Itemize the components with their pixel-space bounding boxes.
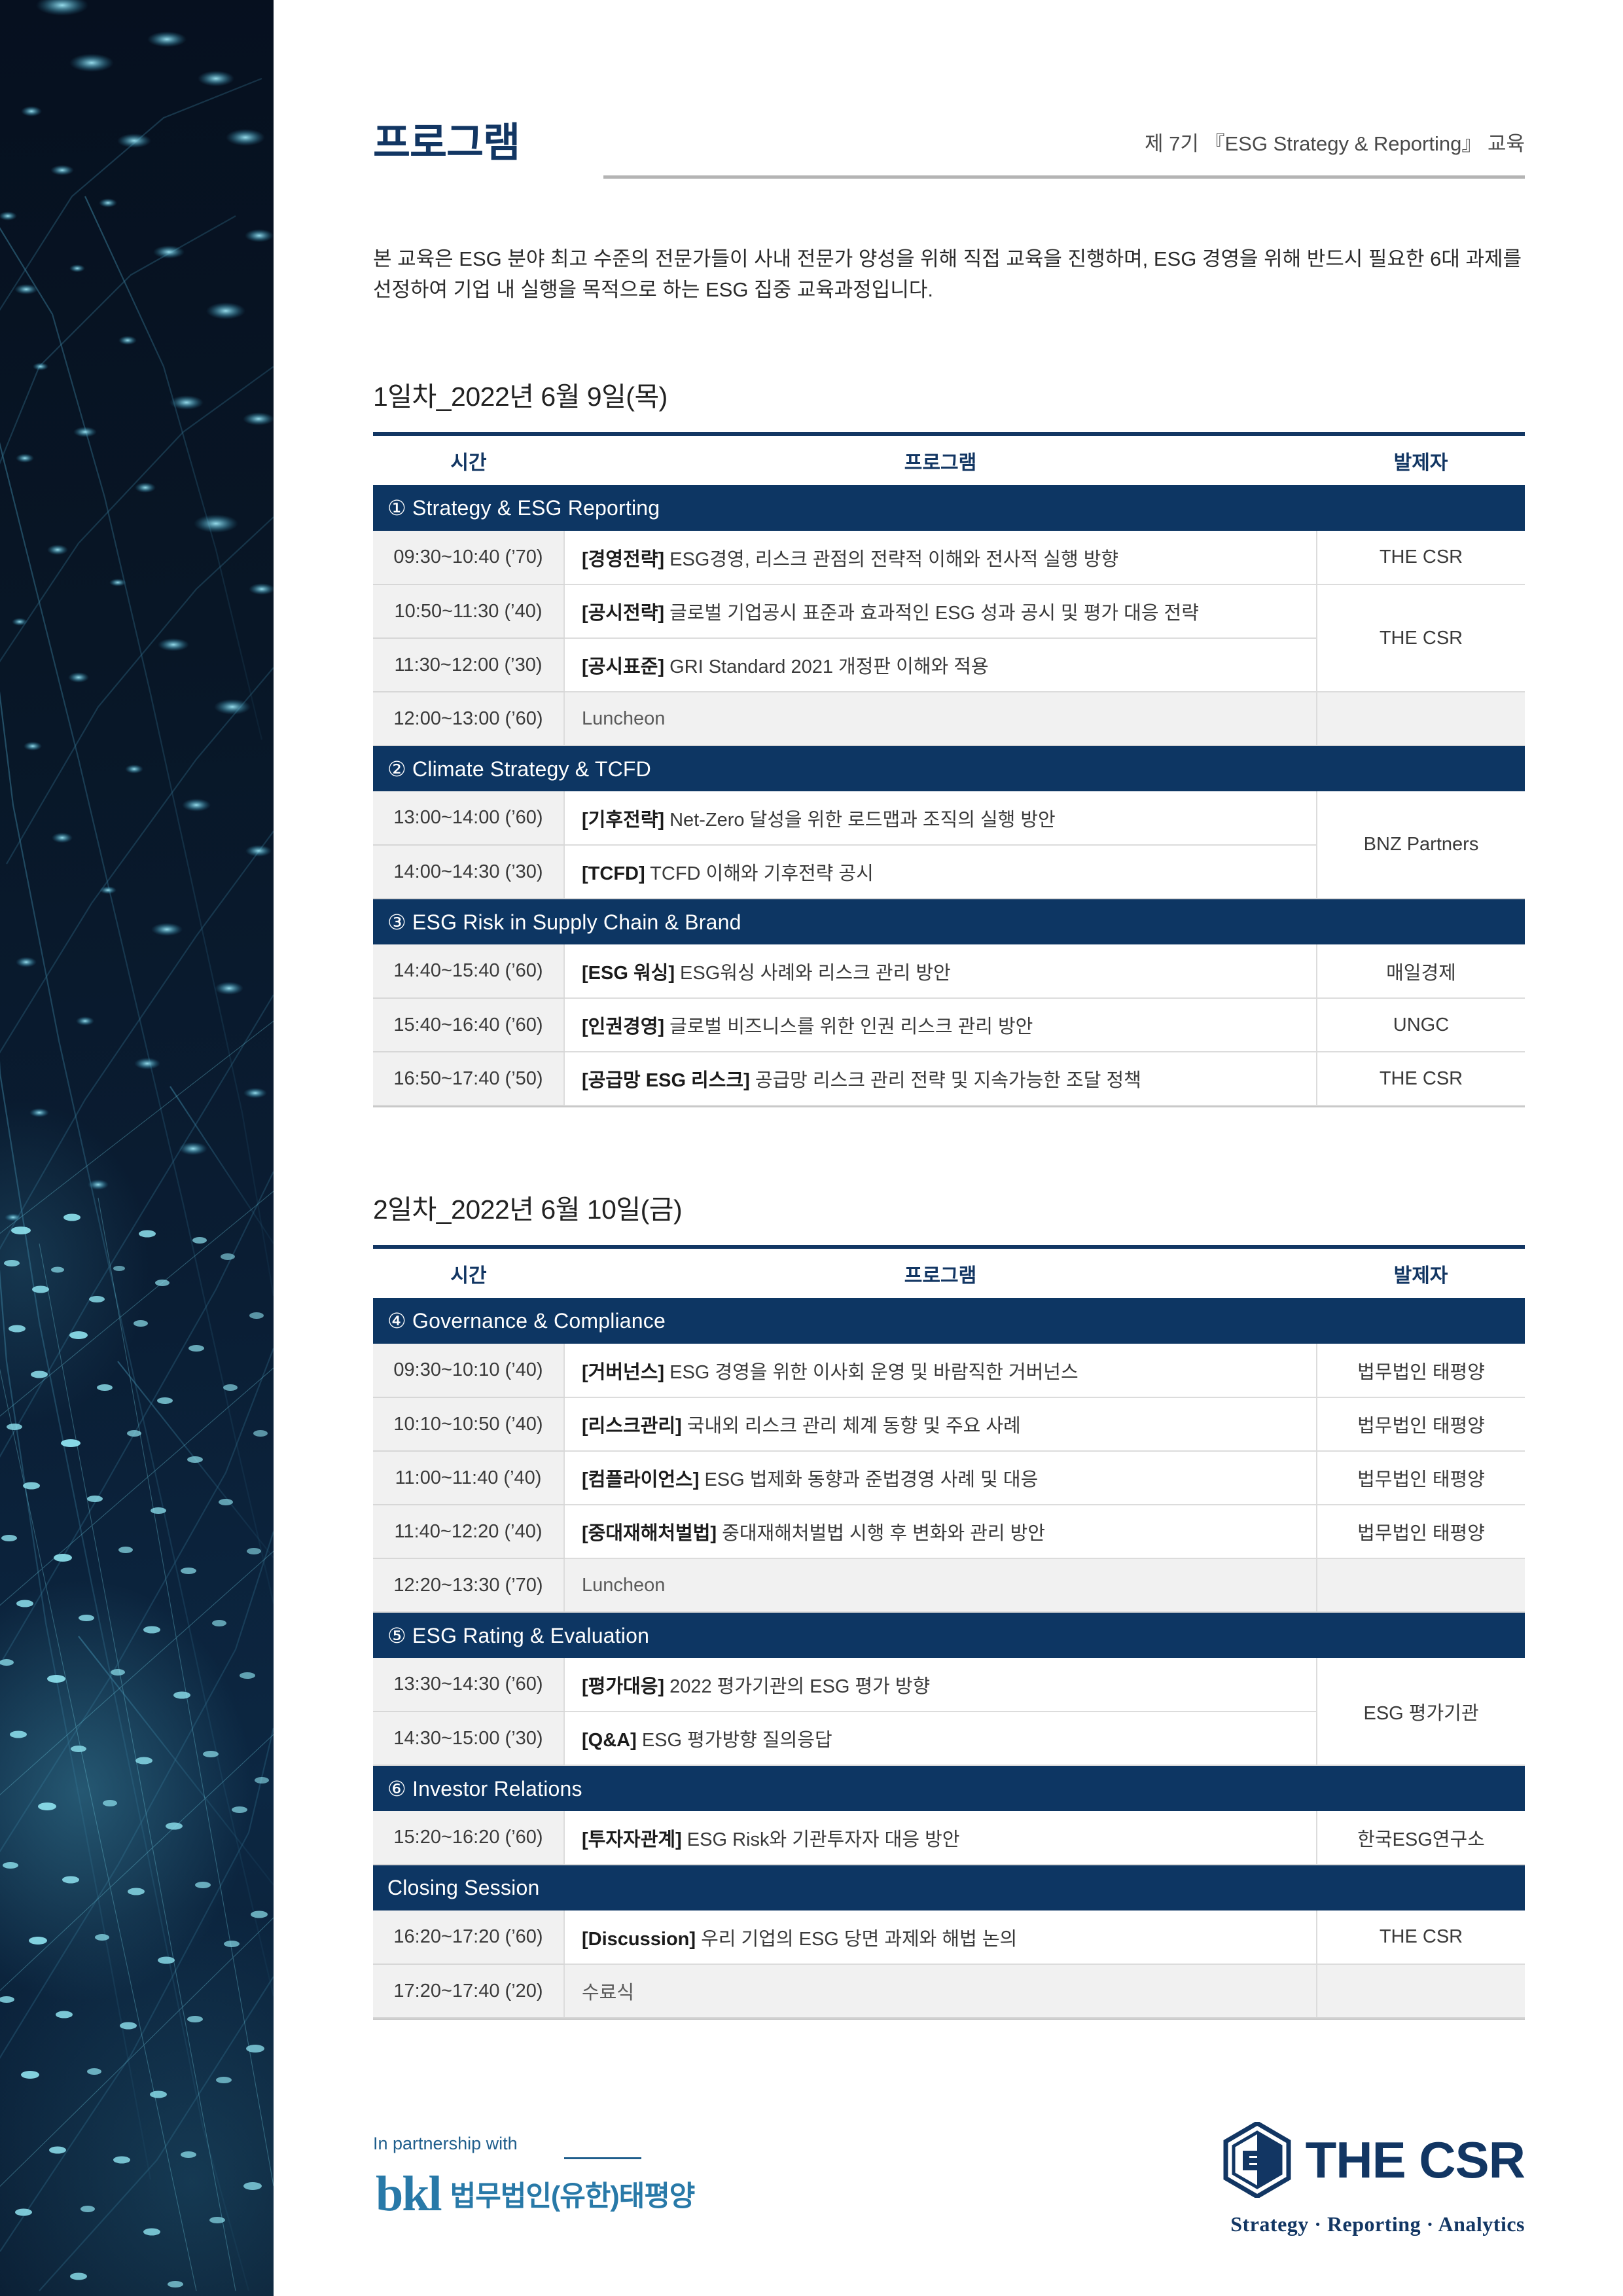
day1-title: 1일차_2022년 6월 9일(목): [373, 374, 668, 414]
session-time: 15:40~16:40 (’60): [373, 998, 564, 1052]
category-label: ⑤ ESG Rating & Evaluation: [373, 1612, 1525, 1658]
session-tag: [공시전략]: [582, 603, 664, 624]
column-header-program: 프로그램: [564, 434, 1317, 485]
session-time: 13:00~14:00 (’60): [373, 791, 564, 845]
session-time: 10:50~11:30 (’40): [373, 584, 564, 638]
session-tag: [기후전략]: [582, 810, 664, 831]
the-csr-logo: THE CSR Strategy · Reporting · Analytics: [1211, 2119, 1525, 2257]
category-header-row: ② Climate Strategy & TCFD: [373, 745, 1525, 791]
bkl-wordmark: bkl: [376, 2172, 441, 2216]
session-time: 14:00~14:30 (’30): [373, 845, 564, 899]
document-footer: In partnership with bkl 법무법인(유한)태평양 THE …: [373, 2119, 1525, 2270]
header-divider: [603, 175, 1525, 179]
document-header: 프로그램 제 7기 『ESG Strategy & Reporting』 교육: [373, 123, 1525, 195]
session-program: [기후전략] Net-Zero 달성을 위한 로드맵과 조직의 실행 방안: [564, 791, 1317, 845]
session-row: 09:30~10:40 (’70)[경영전략] ESG경영, 리스크 관점의 전…: [373, 531, 1525, 584]
session-tag: [거버넌스]: [582, 1362, 664, 1383]
session-program: [중대재해처벌법] 중대재해처벌법 시행 후 변화와 관리 방안: [564, 1505, 1317, 1558]
session-tag: [인권경영]: [582, 1016, 664, 1037]
session-speaker: 한국ESG연구소: [1317, 1811, 1525, 1865]
session-time: 14:40~15:40 (’60): [373, 944, 564, 998]
session-tag: [리스크관리]: [582, 1416, 682, 1437]
session-program: [Discussion] 우리 기업의 ESG 당면 과제와 해법 논의: [564, 1910, 1317, 1964]
table-header-row: 시간 프로그램 발제자: [373, 1247, 1525, 1298]
session-tag: [공급망 ESG 리스크]: [582, 1070, 750, 1091]
session-speaker: UNGC: [1317, 998, 1525, 1052]
bkl-korean-name: 법무법인(유한)태평양: [450, 2181, 695, 2216]
session-speaker: [1317, 1558, 1525, 1612]
break-row: 17:20~17:40 (’20)수료식: [373, 1964, 1525, 2018]
session-speaker: BNZ Partners: [1317, 791, 1525, 899]
the-csr-hexagon-icon: [1223, 2122, 1291, 2198]
day2-schedule: 시간 프로그램 발제자 ④ Governance & Compliance09:…: [373, 1245, 1525, 2020]
category-header-row: ④ Governance & Compliance: [373, 1298, 1525, 1344]
schedule-table-day1: 시간 프로그램 발제자 ① Strategy & ESG Reporting09…: [373, 432, 1525, 1106]
document-content: 프로그램 제 7기 『ESG Strategy & Reporting』 교육 …: [373, 0, 1525, 2296]
column-header-time: 시간: [373, 1247, 564, 1298]
session-tag: [평가대응]: [582, 1676, 664, 1697]
session-program: [ESG 워싱] ESG워싱 사례와 리스크 관리 방안: [564, 944, 1317, 998]
session-time: 16:20~17:20 (’60): [373, 1910, 564, 1964]
session-speaker: THE CSR: [1317, 584, 1525, 692]
session-time: 09:30~10:40 (’70): [373, 531, 564, 584]
session-row: 13:00~14:00 (’60)[기후전략] Net-Zero 달성을 위한 …: [373, 791, 1525, 845]
partnership-label: In partnership with: [373, 2134, 518, 2154]
session-time: 12:00~13:00 (’60): [373, 692, 564, 745]
session-program: [인권경영] 글로벌 비즈니스를 위한 인권 리스크 관리 방안: [564, 998, 1317, 1052]
category-header-row: Closing Session: [373, 1865, 1525, 1910]
category-label: ⑥ Investor Relations: [373, 1765, 1525, 1811]
session-program: [투자자관계] ESG Risk와 기관투자자 대응 방안: [564, 1811, 1317, 1865]
session-time: 14:30~15:00 (’30): [373, 1712, 564, 1765]
break-row: 12:00~13:00 (’60)Luncheon: [373, 692, 1525, 745]
column-header-time: 시간: [373, 434, 564, 485]
session-row: 16:20~17:20 (’60)[Discussion] 우리 기업의 ESG…: [373, 1910, 1525, 1964]
session-row: 11:40~12:20 (’40)[중대재해처벌법] 중대재해처벌법 시행 후 …: [373, 1505, 1525, 1558]
schedule-body-day2: ④ Governance & Compliance09:30~10:10 (’4…: [373, 1298, 1525, 2018]
session-row: 11:00~11:40 (’40)[컴플라이언스] ESG 법제화 동향과 준법…: [373, 1451, 1525, 1505]
session-program: [거버넌스] ESG 경영을 위한 이사회 운영 및 바람직한 거버넌스: [564, 1344, 1317, 1397]
session-tag: [투자자관계]: [582, 1829, 682, 1850]
session-program: [경영전략] ESG경영, 리스크 관점의 전략적 이해와 전사적 실행 방향: [564, 531, 1317, 584]
session-program: [Q&A] ESG 평가방향 질의응답: [564, 1712, 1317, 1765]
table-bottom-rule: [373, 1106, 1525, 1107]
session-speaker: THE CSR: [1317, 531, 1525, 584]
session-speaker: 법무법인 태평양: [1317, 1344, 1525, 1397]
session-row: 15:20~16:20 (’60)[투자자관계] ESG Risk와 기관투자자…: [373, 1811, 1525, 1865]
session-speaker: [1317, 692, 1525, 745]
the-csr-tagline: Strategy · Reporting · Analytics: [1230, 2212, 1525, 2236]
session-time: 13:30~14:30 (’60): [373, 1658, 564, 1712]
category-label: ③ ESG Risk in Supply Chain & Brand: [373, 899, 1525, 944]
sidebar-network-graphic: [0, 0, 274, 2296]
session-time: 11:40~12:20 (’40): [373, 1505, 564, 1558]
session-row: 15:40~16:40 (’60)[인권경영] 글로벌 비즈니스를 위한 인권 …: [373, 998, 1525, 1052]
session-program: [공시전략] 글로벌 기업공시 표준과 효과적인 ESG 성과 공시 및 평가 …: [564, 584, 1317, 638]
category-label: ④ Governance & Compliance: [373, 1298, 1525, 1344]
break-row: 12:20~13:30 (’70)Luncheon: [373, 1558, 1525, 1612]
header-subtitle: 제 7기 『ESG Strategy & Reporting』 교육: [1145, 127, 1525, 156]
session-row: 09:30~10:10 (’40)[거버넌스] ESG 경영을 위한 이사회 운…: [373, 1344, 1525, 1397]
day2-title: 2일차_2022년 6월 10일(금): [373, 1187, 682, 1227]
session-tag: [공시표준]: [582, 656, 664, 677]
column-header-speaker: 발제자: [1317, 1247, 1525, 1298]
session-program: Luncheon: [564, 692, 1317, 745]
session-program: [리스크관리] 국내외 리스크 관리 체계 동향 및 주요 사례: [564, 1397, 1317, 1451]
category-label: ② Climate Strategy & TCFD: [373, 745, 1525, 791]
category-label: ① Strategy & ESG Reporting: [373, 485, 1525, 531]
program-page: 프로그램 제 7기 『ESG Strategy & Reporting』 교육 …: [0, 0, 1623, 2296]
session-time: 17:20~17:40 (’20): [373, 1964, 564, 2018]
session-speaker: 법무법인 태평양: [1317, 1505, 1525, 1558]
session-time: 15:20~16:20 (’60): [373, 1811, 564, 1865]
day1-schedule: 시간 프로그램 발제자 ① Strategy & ESG Reporting09…: [373, 432, 1525, 1107]
session-speaker: THE CSR: [1317, 1910, 1525, 1964]
column-header-program: 프로그램: [564, 1247, 1317, 1298]
session-program: [컴플라이언스] ESG 법제화 동향과 준법경영 사례 및 대응: [564, 1451, 1317, 1505]
session-time: 16:50~17:40 (’50): [373, 1052, 564, 1105]
session-speaker: 법무법인 태평양: [1317, 1451, 1525, 1505]
category-header-row: ⑥ Investor Relations: [373, 1765, 1525, 1811]
session-time: 12:20~13:30 (’70): [373, 1558, 564, 1612]
session-program: [공시표준] GRI Standard 2021 개정판 이해와 적용: [564, 638, 1317, 692]
session-tag: [ESG 워싱]: [582, 963, 675, 984]
category-header-row: ⑤ ESG Rating & Evaluation: [373, 1612, 1525, 1658]
session-row: 13:30~14:30 (’60)[평가대응] 2022 평가기관의 ESG 평…: [373, 1658, 1525, 1712]
partnership-underline: [564, 2157, 641, 2159]
session-row: 16:50~17:40 (’50)[공급망 ESG 리스크] 공급망 리스크 관…: [373, 1052, 1525, 1105]
table-header-row: 시간 프로그램 발제자: [373, 434, 1525, 485]
session-speaker: 매일경제: [1317, 944, 1525, 998]
category-header-row: ③ ESG Risk in Supply Chain & Brand: [373, 899, 1525, 944]
the-csr-wordmark: THE CSR: [1306, 2134, 1525, 2185]
category-header-row: ① Strategy & ESG Reporting: [373, 485, 1525, 531]
session-tag: [Discussion]: [582, 1929, 696, 1950]
session-program: 수료식: [564, 1964, 1317, 2018]
session-tag: [경영전략]: [582, 549, 664, 570]
session-tag: [TCFD]: [582, 863, 645, 884]
table-bottom-rule: [373, 2018, 1525, 2020]
session-time: 09:30~10:10 (’40): [373, 1344, 564, 1397]
session-time: 10:10~10:50 (’40): [373, 1397, 564, 1451]
schedule-body-day1: ① Strategy & ESG Reporting09:30~10:40 (’…: [373, 485, 1525, 1105]
session-speaker: 법무법인 태평양: [1317, 1397, 1525, 1451]
intro-paragraph: 본 교육은 ESG 분야 최고 수준의 전문가들이 사내 전문가 양성을 위해 …: [373, 243, 1525, 305]
session-tag: [컴플라이언스]: [582, 1469, 699, 1490]
session-speaker: THE CSR: [1317, 1052, 1525, 1105]
session-row: 10:50~11:30 (’40)[공시전략] 글로벌 기업공시 표준과 효과적…: [373, 584, 1525, 638]
session-program: [공급망 ESG 리스크] 공급망 리스크 관리 전략 및 지속가능한 조달 정…: [564, 1052, 1317, 1105]
page-title: 프로그램: [373, 123, 520, 164]
session-row: 14:40~15:40 (’60)[ESG 워싱] ESG워싱 사례와 리스크 …: [373, 944, 1525, 998]
session-tag: [중대재해처벌법]: [582, 1523, 717, 1544]
session-program: [TCFD] TCFD 이해와 기후전략 공시: [564, 845, 1317, 899]
session-speaker: [1317, 1964, 1525, 2018]
session-row: 10:10~10:50 (’40)[리스크관리] 국내외 리스크 관리 체계 동…: [373, 1397, 1525, 1451]
column-header-speaker: 발제자: [1317, 434, 1525, 485]
session-speaker: ESG 평가기관: [1317, 1658, 1525, 1765]
session-program: Luncheon: [564, 1558, 1317, 1612]
session-tag: [Q&A]: [582, 1730, 637, 1751]
category-label: Closing Session: [373, 1865, 1525, 1910]
bkl-logo: bkl 법무법인(유한)태평양: [376, 2172, 694, 2216]
session-program: [평가대응] 2022 평가기관의 ESG 평가 방향: [564, 1658, 1317, 1712]
session-time: 11:30~12:00 (’30): [373, 638, 564, 692]
schedule-table-day2: 시간 프로그램 발제자 ④ Governance & Compliance09:…: [373, 1245, 1525, 2018]
session-time: 11:00~11:40 (’40): [373, 1451, 564, 1505]
